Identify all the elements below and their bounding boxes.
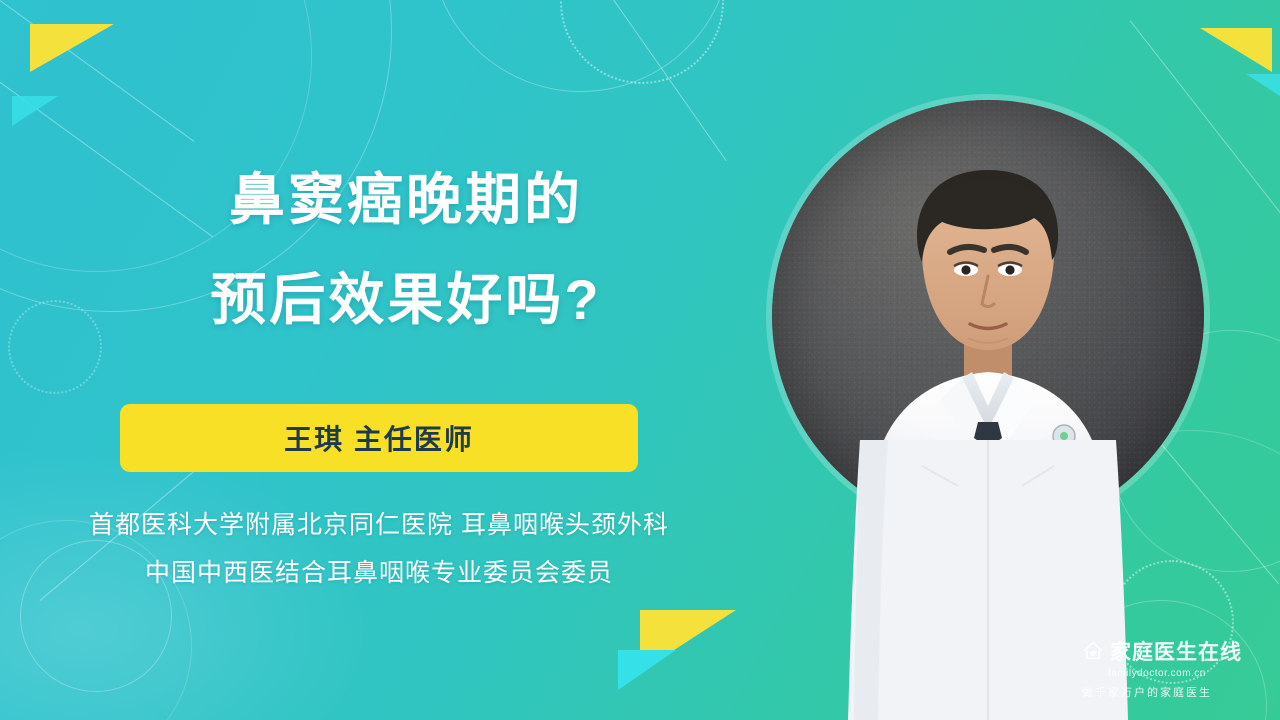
title-line-2: 预后效果好吗? (96, 250, 716, 350)
decorative-line (600, 0, 727, 161)
decorative-triangle-cyan (618, 650, 676, 690)
doctor-name-label: 王琪 主任医师 (284, 418, 474, 458)
watermark-slogan: 做千家万户的家庭医生 (1082, 684, 1262, 700)
title-line-1: 鼻窦癌晚期的 (96, 150, 716, 250)
decorative-dotted-circle (560, 0, 724, 84)
decorative-triangle-cyan (1246, 74, 1280, 100)
decorative-triangle-cyan (12, 96, 58, 126)
decorative-ring (430, 0, 732, 92)
page-title: 鼻窦癌晚期的 预后效果好吗? (96, 150, 716, 350)
decorative-ring (0, 520, 192, 720)
decorative-dotted-circle (8, 300, 102, 394)
decorative-triangle-yellow (30, 24, 114, 72)
watermark-brand: 家庭医生在线 (1110, 636, 1242, 666)
decorative-triangle-yellow (640, 610, 736, 672)
house-heart-icon (1082, 640, 1104, 662)
watermark: 家庭医生在线 familydoctor.com.cn 做千家万户的家庭医生 (1082, 636, 1262, 700)
doctor-name-badge: 王琪 主任医师 (120, 404, 638, 472)
affiliation-line-1: 首都医科大学附属北京同仁医院 耳鼻咽喉头颈外科 (20, 505, 738, 541)
affiliation-line-2: 中国中西医结合耳鼻咽喉专业委员会委员 (20, 553, 738, 589)
decorative-line (0, 0, 194, 142)
video-poster: 鼻窦癌晚期的 预后效果好吗? 王琪 主任医师 首都医科大学附属北京同仁医院 耳鼻… (0, 0, 1280, 720)
decorative-triangle-yellow (1200, 28, 1272, 72)
watermark-url: familydoctor.com.cn (1108, 668, 1262, 679)
